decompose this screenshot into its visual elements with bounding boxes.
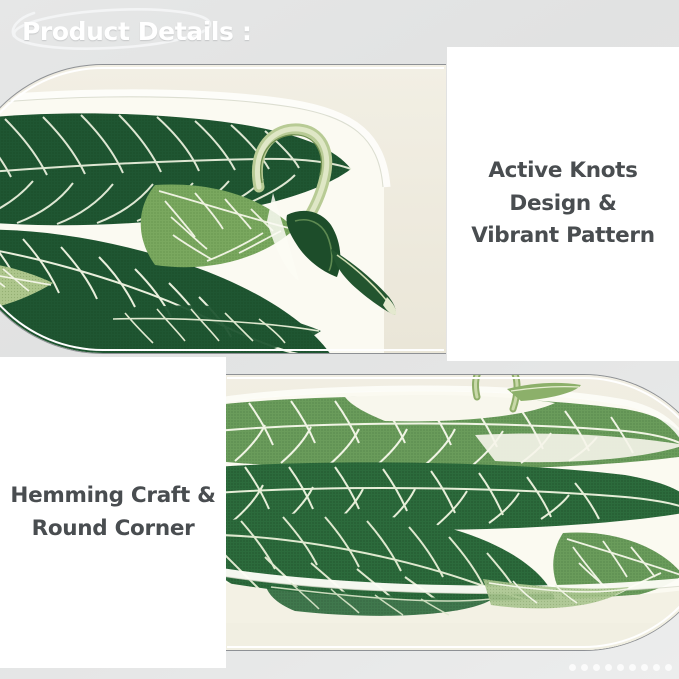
- carousel-dot[interactable]: [641, 664, 649, 672]
- carousel-dot[interactable]: [569, 664, 577, 672]
- carousel-dot[interactable]: [605, 664, 613, 672]
- carousel-dot[interactable]: [665, 664, 673, 672]
- tropical-leaf-pattern-top: [0, 65, 446, 354]
- page-title: Product Details :: [8, 6, 223, 54]
- carousel-dot[interactable]: [593, 664, 601, 672]
- caption-panel-bottom: Hemming Craft &Round Corner: [0, 357, 226, 668]
- caption-panel-top: Active Knots Design &Vibrant Pattern: [447, 47, 679, 361]
- caption-line-2: Round Corner: [32, 516, 195, 541]
- caption-text-top: Active Knots Design &Vibrant Pattern: [456, 155, 671, 253]
- carousel-dot[interactable]: [617, 664, 625, 672]
- carousel-dot[interactable]: [629, 664, 637, 672]
- carousel-dot[interactable]: [653, 664, 661, 672]
- tropical-leaf-pattern-bottom: [225, 375, 679, 651]
- product-details-graphic: Active Knots Design &Vibrant Pattern: [0, 0, 679, 679]
- carousel-dots[interactable]: [569, 664, 673, 672]
- caption-line-1: Hemming Craft &: [10, 483, 215, 508]
- carousel-dot[interactable]: [581, 664, 589, 672]
- cushion-hem-closeup-image: [225, 374, 679, 651]
- caption-line-1: Active Knots Design &: [488, 158, 637, 216]
- caption-line-2: Vibrant Pattern: [471, 223, 654, 248]
- page-title-text: Product Details :: [22, 17, 251, 46]
- caption-text-bottom: Hemming Craft &Round Corner: [9, 480, 217, 545]
- cushion-knot-closeup-image: [0, 64, 446, 354]
